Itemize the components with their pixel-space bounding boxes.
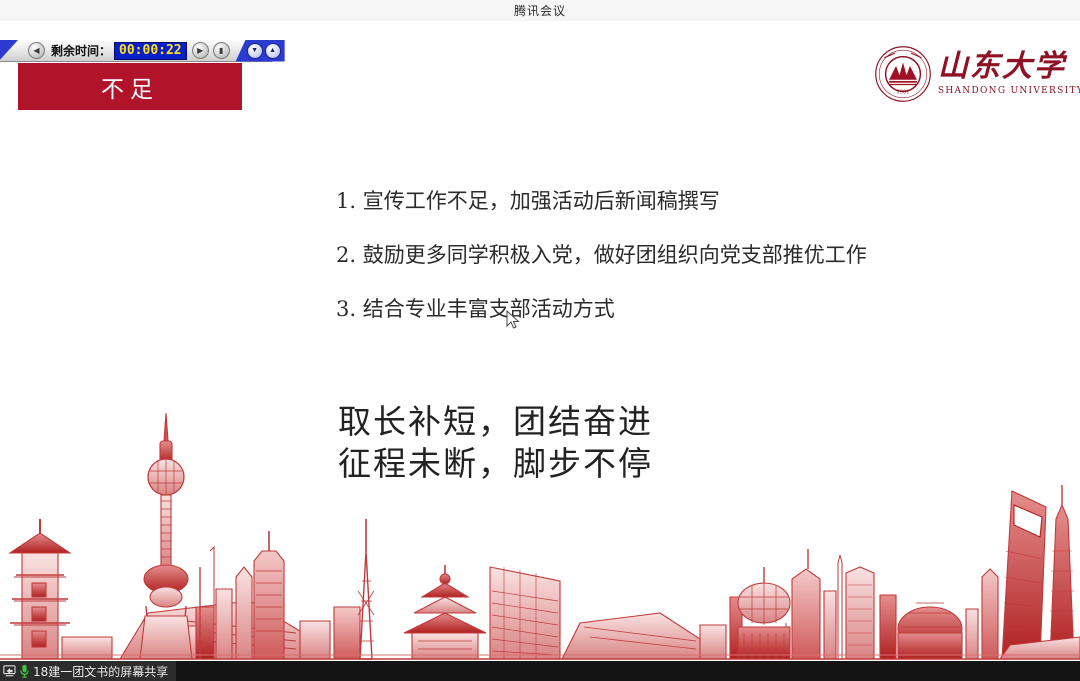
share-status-text: 18建一团文书的屏幕共享 (33, 663, 168, 680)
chevron-down-icon[interactable]: ▼ (247, 43, 263, 59)
chevron-up-icon[interactable]: ▲ (265, 43, 281, 59)
timer-label: 剩余时间： (51, 42, 111, 59)
prev-icon[interactable]: ◀ (28, 42, 45, 59)
toolbar-corner-accent (0, 40, 26, 62)
window-title-bar: 腾讯会议 (0, 0, 1080, 21)
list-item: 3. 结合专业丰富支部活动方式 (336, 299, 1036, 320)
window-title: 腾讯会议 (514, 2, 566, 19)
slide-heading-banner: 不足 (18, 63, 242, 110)
presenter-timer-toolbar[interactable]: ◀ 剩余时间： 00:00:22 ▶ ▮ ▼ ▲ (0, 40, 272, 62)
shared-screen-slide: 不足 1901 山东大学 SHANDONG UNIVERSITY 1. 宣传 (0, 21, 1080, 661)
university-name-en: SHANDONG UNIVERSITY (938, 86, 1080, 96)
shandong-university-emblem-icon: 1901 (874, 45, 932, 103)
university-name-cn: 山东大学 (938, 52, 1080, 82)
university-logo-text: 山东大学 SHANDONG UNIVERSITY (938, 52, 1080, 96)
time-remaining-display: 00:00:22 (114, 42, 187, 60)
play-icon[interactable]: ▶ (192, 42, 209, 59)
share-status-chip: 18建一团文书的屏幕共享 (0, 661, 176, 681)
list-item: 2. 鼓励更多同学积极入党，做好团组织向党支部推优工作 (336, 245, 1036, 266)
city-skyline-illustration (0, 401, 1080, 661)
next-slide-icon[interactable]: ▮ (213, 42, 230, 59)
slide-heading-text: 不足 (101, 70, 159, 104)
list-item: 1. 宣传工作不足，加强活动后新闻稿撰写 (336, 191, 1036, 212)
university-logo: 1901 山东大学 SHANDONG UNIVERSITY (874, 43, 1080, 105)
slide-content: 不足 1901 山东大学 SHANDONG UNIVERSITY 1. 宣传 (0, 21, 1080, 661)
slide-bullet-list: 1. 宣传工作不足，加强活动后新闻稿撰写 2. 鼓励更多同学积极入党，做好团组织… (336, 191, 1036, 353)
mouse-pointer-icon (506, 310, 520, 330)
toolbar-stepper-group[interactable]: ▼ ▲ (236, 40, 285, 62)
screen-share-status-bar: 18建一团文书的屏幕共享 (0, 661, 1080, 681)
toolbar-playback-controls[interactable]: ▶ ▮ (190, 42, 232, 59)
microphone-icon (19, 664, 30, 678)
svg-text:1901: 1901 (896, 90, 909, 96)
screen-share-icon (3, 665, 17, 677)
